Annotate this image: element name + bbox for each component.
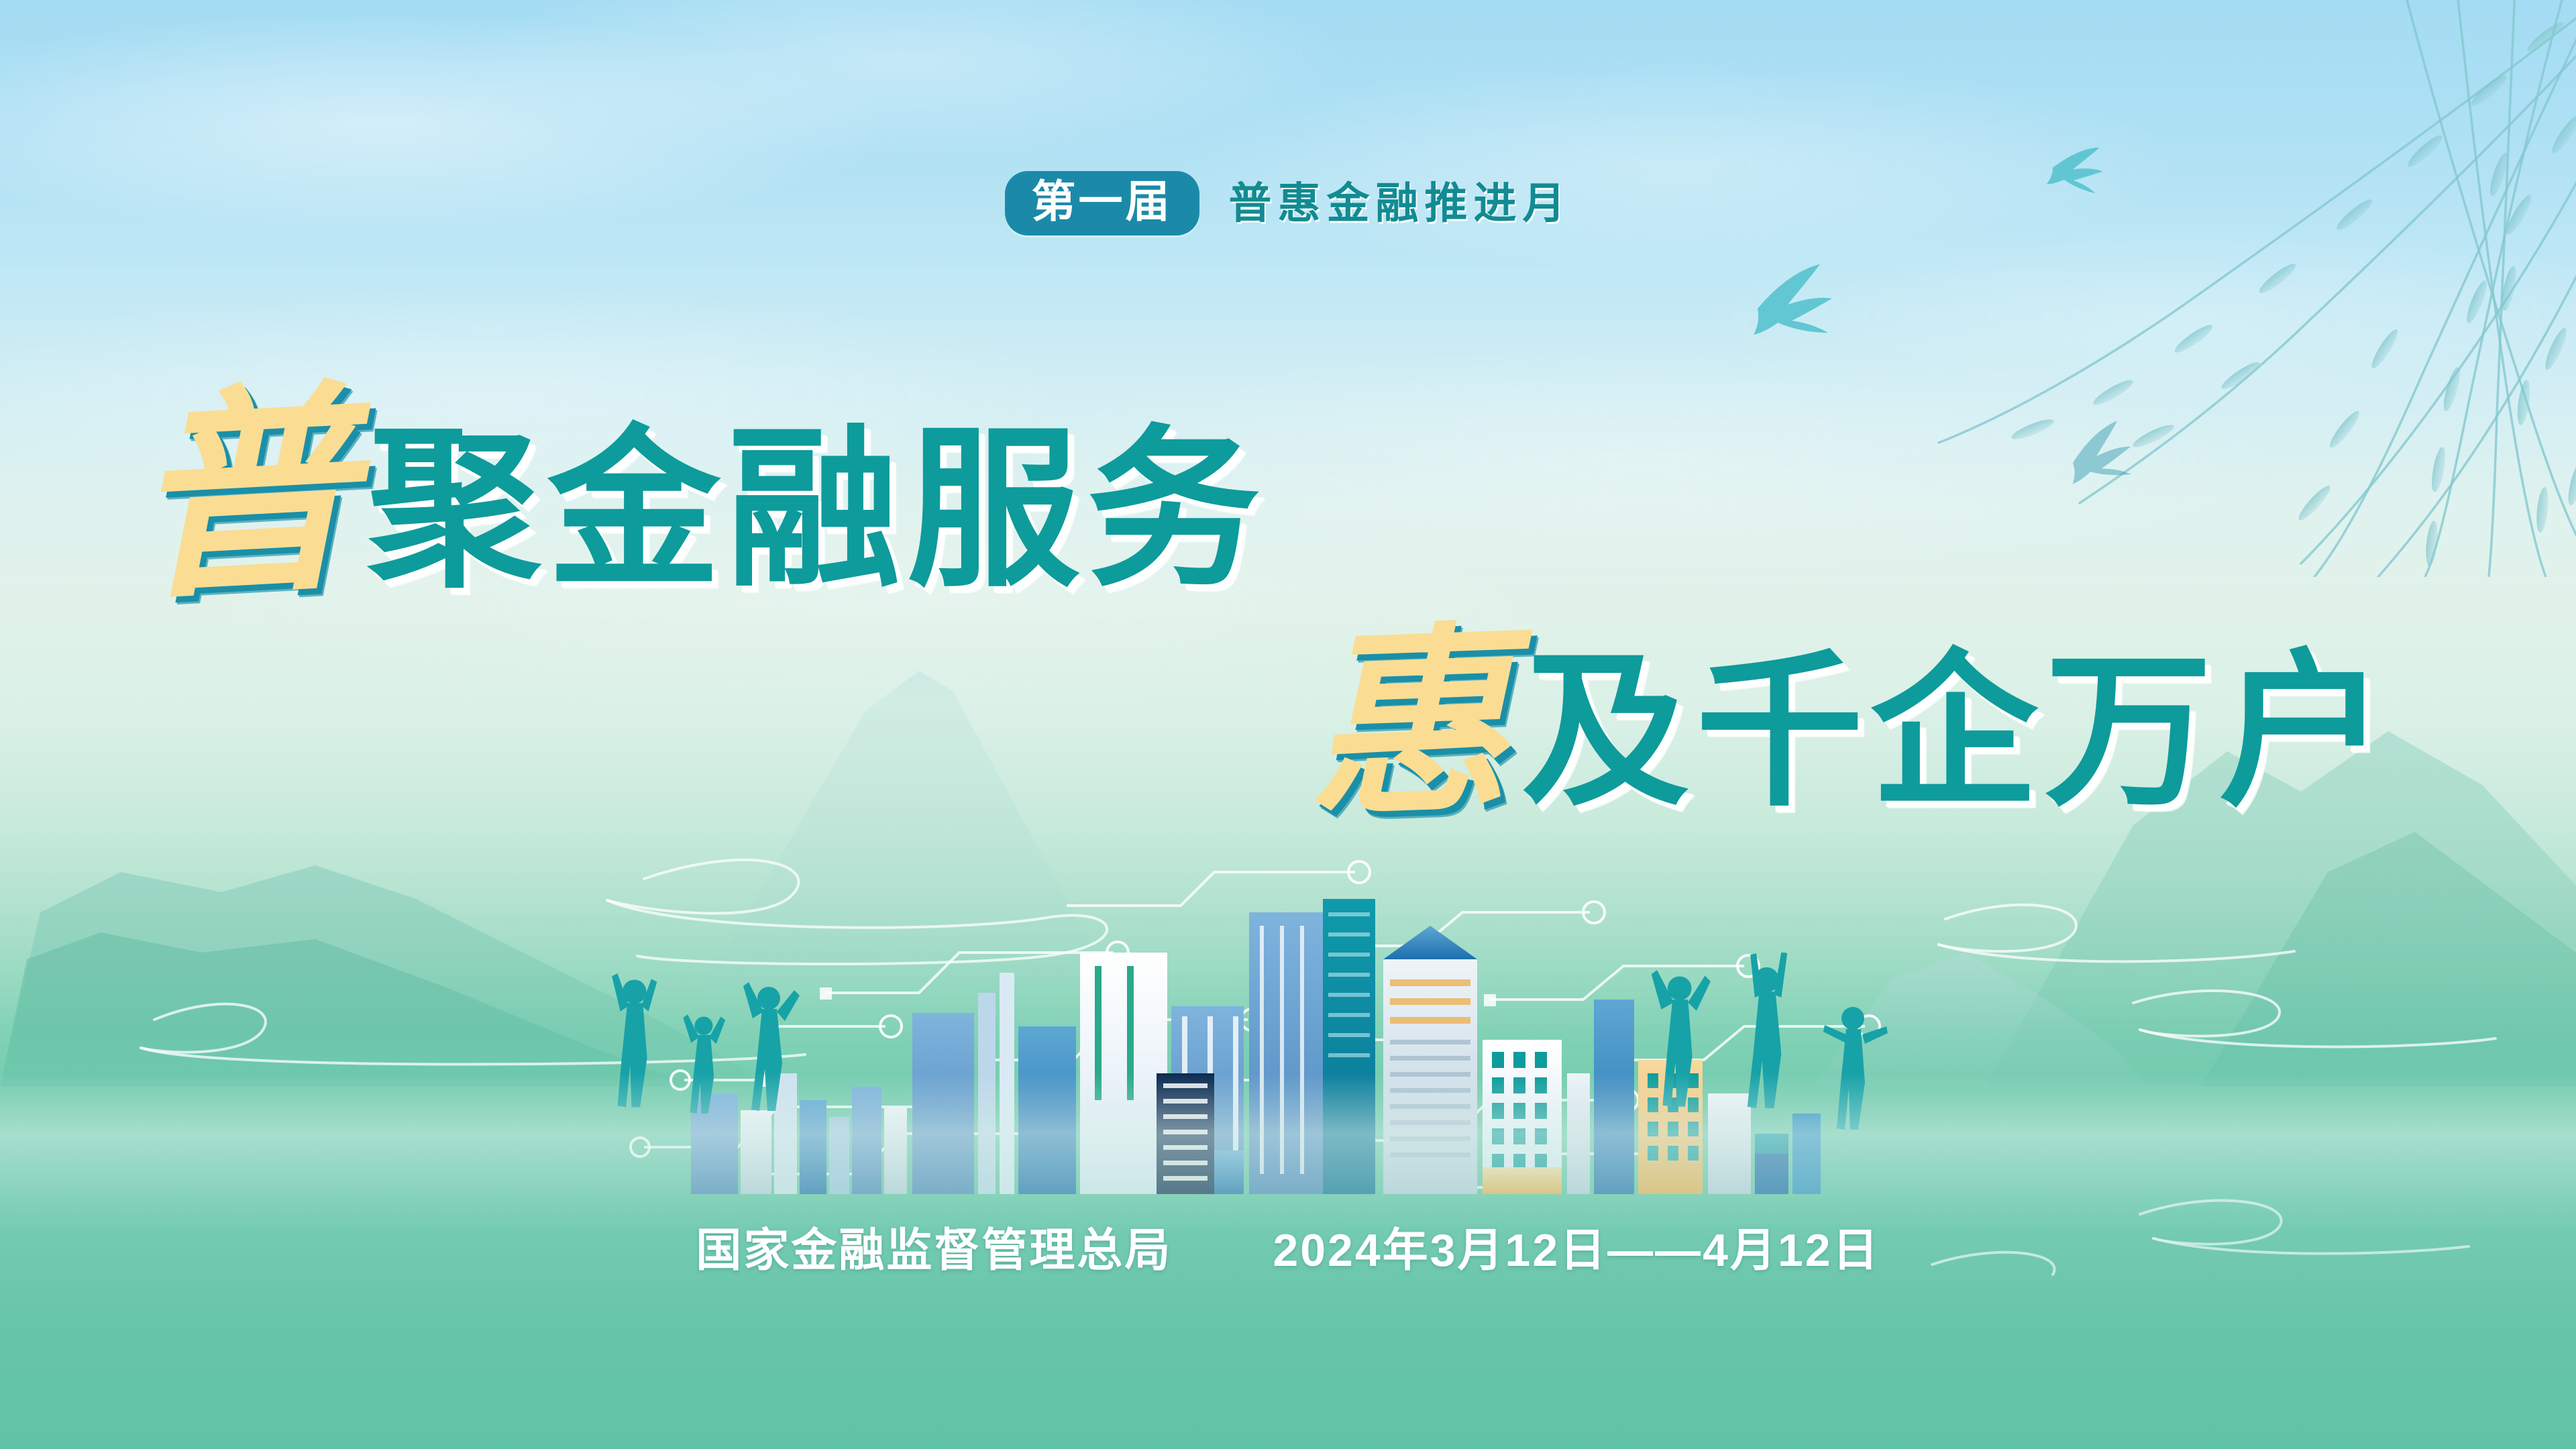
badge-row: 第一届 普惠金融推进月 bbox=[0, 171, 2576, 235]
promo-banner: 第一届 普惠金融推进月 普 聚金融服务 惠 及千企万户 国家金融监督管理总局 2… bbox=[0, 0, 2576, 1449]
edition-badge: 第一届 bbox=[1005, 171, 1199, 235]
city-skyline bbox=[684, 872, 1825, 1194]
campaign-subtitle: 普惠金融推进月 bbox=[1229, 182, 1572, 225]
